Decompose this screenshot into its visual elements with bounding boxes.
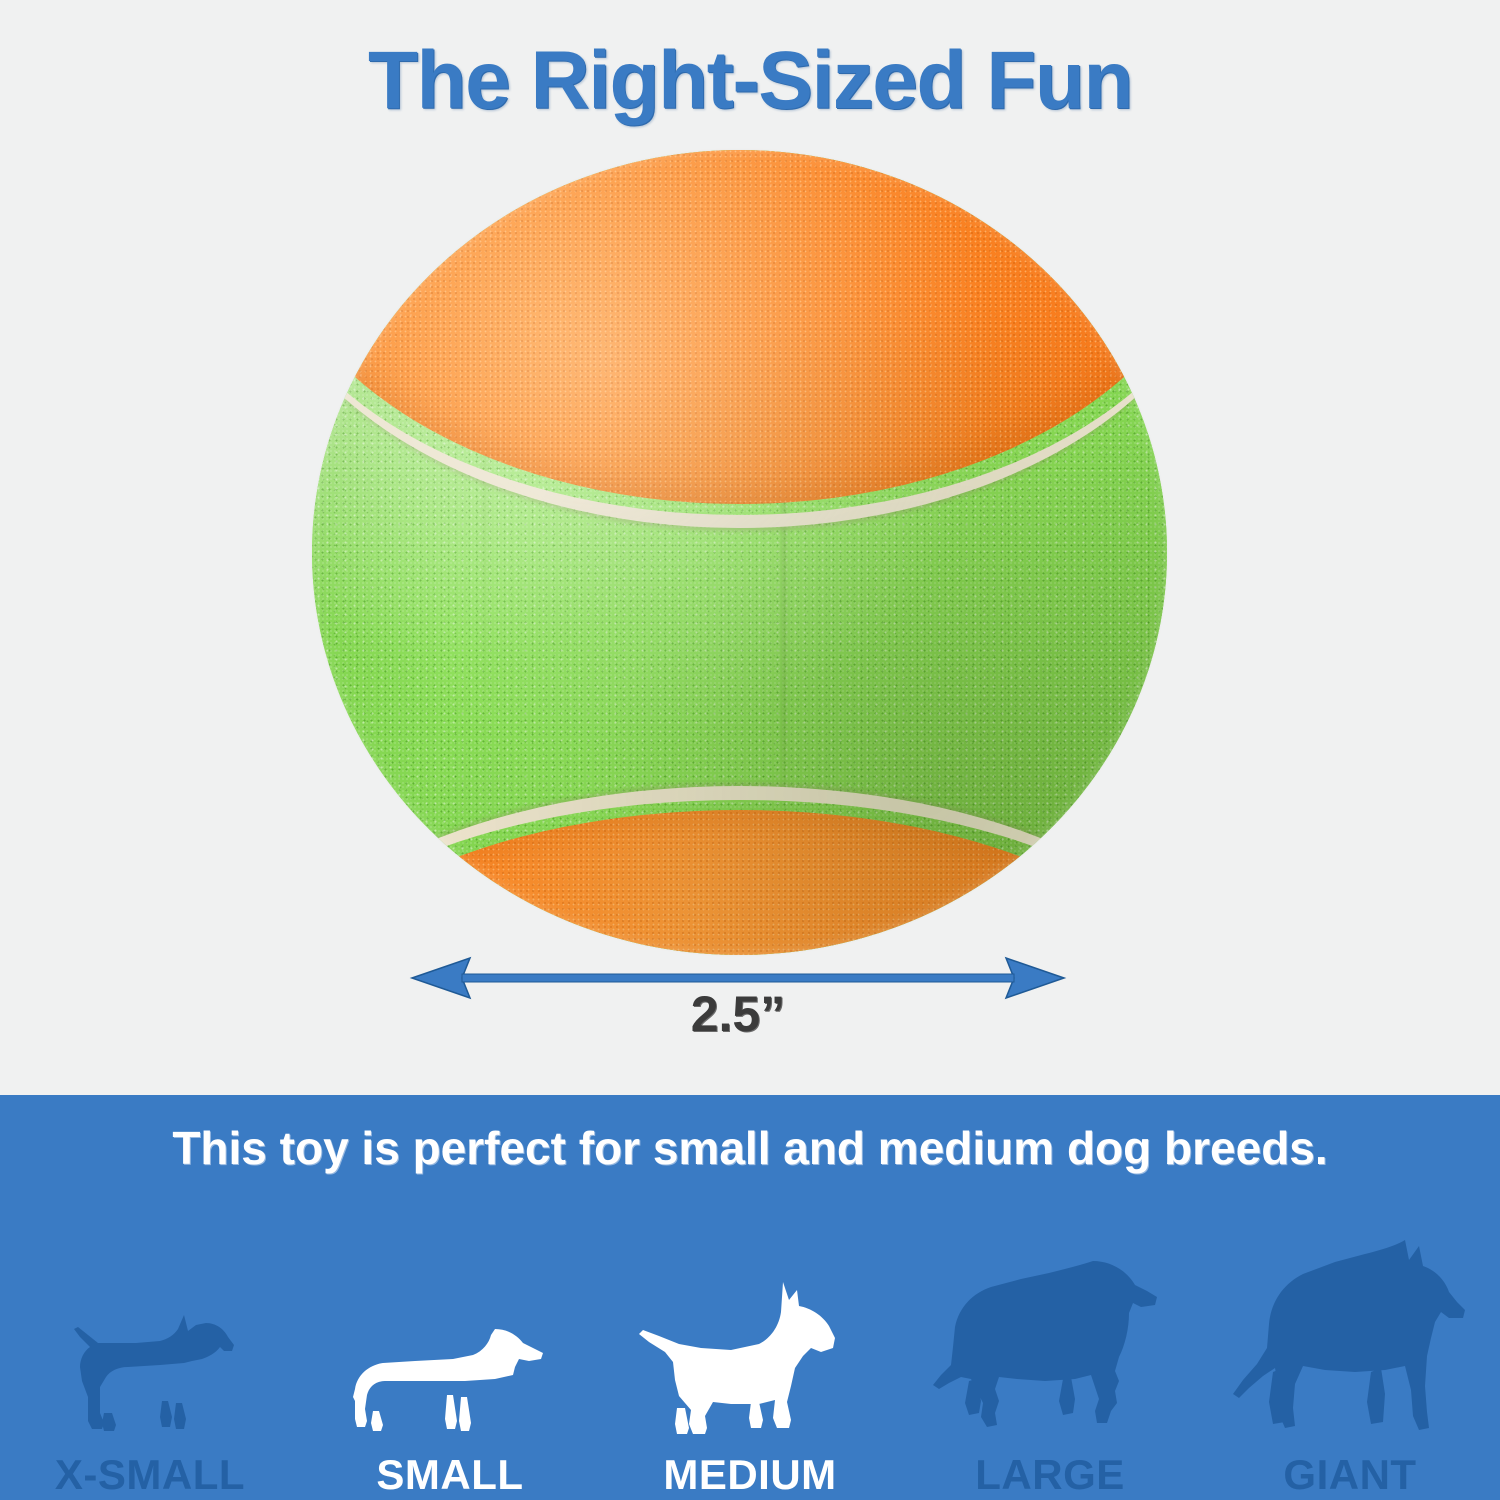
size-option-large[interactable]: LARGE bbox=[900, 1197, 1200, 1497]
size-option-label: X-SMALL bbox=[55, 1453, 245, 1497]
size-option-small[interactable]: SMALL bbox=[300, 1197, 600, 1497]
dachshund-silhouette-icon bbox=[345, 1301, 555, 1451]
bull-terrier-silhouette-icon bbox=[635, 1276, 865, 1451]
size-option-label: MEDIUM bbox=[663, 1453, 836, 1497]
chihuahua-silhouette-icon bbox=[50, 1301, 250, 1451]
size-option-label: LARGE bbox=[975, 1453, 1125, 1497]
arrow-shaft bbox=[462, 974, 1014, 982]
measurement-label: 2.5” bbox=[408, 985, 1068, 1043]
breed-size-row: X-SMALL SMALL MEDIUM LA bbox=[0, 1187, 1500, 1497]
product-hero-section: The Right-Sized Fun bbox=[0, 0, 1500, 1095]
golden-retriever-silhouette-icon bbox=[925, 1251, 1175, 1451]
page-title: The Right-Sized Fun bbox=[0, 34, 1500, 128]
tennis-ball-image bbox=[312, 150, 1167, 955]
size-option-x-small[interactable]: X-SMALL bbox=[0, 1197, 300, 1497]
breed-panel-headline: This toy is perfect for small and medium… bbox=[0, 1121, 1500, 1175]
infographic-page: The Right-Sized Fun bbox=[0, 0, 1500, 1500]
tennis-ball-sphere bbox=[312, 150, 1167, 955]
size-option-medium[interactable]: MEDIUM bbox=[600, 1197, 900, 1497]
size-option-giant[interactable]: GIANT bbox=[1200, 1197, 1500, 1497]
size-option-label: GIANT bbox=[1283, 1453, 1416, 1497]
great-dane-silhouette-icon bbox=[1225, 1236, 1475, 1451]
breed-size-panel: This toy is perfect for small and medium… bbox=[0, 1095, 1500, 1500]
size-option-label: SMALL bbox=[376, 1453, 523, 1497]
